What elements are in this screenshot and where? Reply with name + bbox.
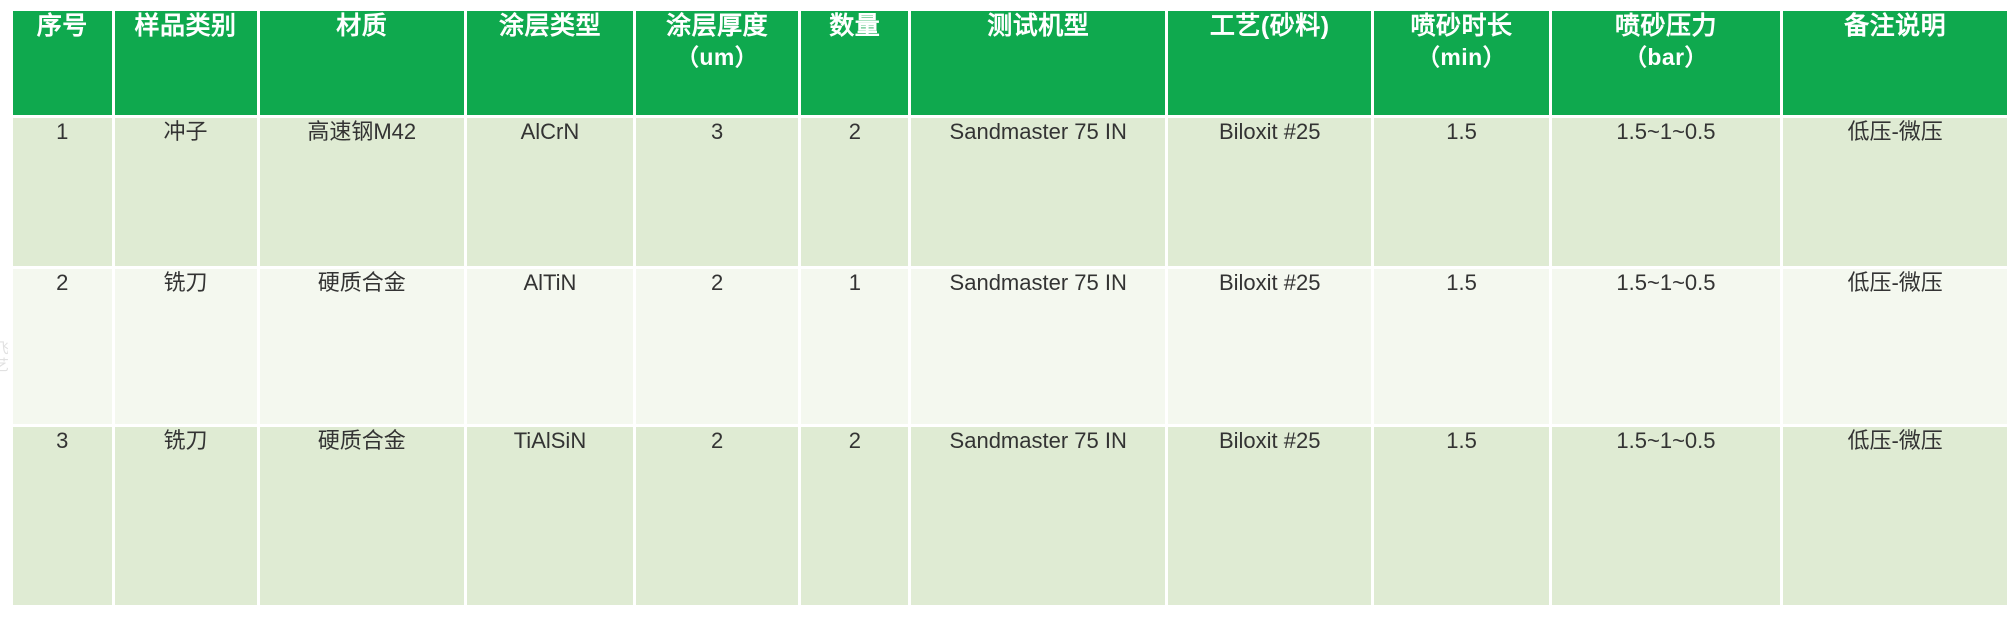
column-header-unit: （min）: [1374, 42, 1548, 72]
sample-test-plan-table: 序号样品类别材质涂层类型涂层厚度（um）数量测试机型工艺(砂料)喷砂时长（min…: [10, 8, 2010, 608]
cell-machine[interactable]: Sandmaster 75 IN: [911, 118, 1165, 266]
cell-coating[interactable]: AlCrN: [467, 118, 633, 266]
table-row[interactable]: 2铣刀硬质合金AlTiN21Sandmaster 75 INBiloxit #2…: [13, 269, 2007, 424]
column-header-seq[interactable]: 序号: [13, 11, 112, 115]
cell-material[interactable]: 高速钢M42: [260, 118, 464, 266]
cell-machine[interactable]: Sandmaster 75 IN: [911, 427, 1165, 605]
cell-thickness[interactable]: 2: [636, 269, 798, 424]
cell-thickness[interactable]: 2: [636, 427, 798, 605]
cell-category[interactable]: 铣刀: [115, 269, 257, 424]
cell-qty[interactable]: 2: [801, 118, 908, 266]
cell-pressure[interactable]: 1.5~1~0.5: [1552, 118, 1781, 266]
column-header-process[interactable]: 工艺(砂料): [1168, 11, 1371, 115]
column-header-unit: （um）: [636, 42, 798, 72]
cell-seq[interactable]: 2: [13, 269, 112, 424]
cell-coating[interactable]: TiAlSiN: [467, 427, 633, 605]
column-header-label: 序号: [37, 12, 88, 40]
cell-pressure[interactable]: 1.5~1~0.5: [1552, 427, 1781, 605]
cell-remark[interactable]: 低压-微压: [1783, 427, 2007, 605]
column-header-label: 涂层类型: [499, 12, 601, 40]
column-header-label: 样品类别: [135, 12, 237, 40]
column-header-unit: （bar）: [1552, 42, 1781, 72]
column-header-material[interactable]: 材质: [260, 11, 464, 115]
cell-blast_time[interactable]: 1.5: [1374, 269, 1548, 424]
column-header-label: 喷砂时长: [1411, 12, 1513, 40]
column-header-thickness[interactable]: 涂层厚度（um）: [636, 11, 798, 115]
table-header: 序号样品类别材质涂层类型涂层厚度（um）数量测试机型工艺(砂料)喷砂时长（min…: [13, 11, 2007, 115]
cell-thickness[interactable]: 3: [636, 118, 798, 266]
cell-qty[interactable]: 1: [801, 269, 908, 424]
column-header-qty[interactable]: 数量: [801, 11, 908, 115]
column-header-coating[interactable]: 涂层类型: [467, 11, 633, 115]
cell-category[interactable]: 铣刀: [115, 427, 257, 605]
table-header-row: 序号样品类别材质涂层类型涂层厚度（um）数量测试机型工艺(砂料)喷砂时长（min…: [13, 11, 2007, 115]
cell-remark[interactable]: 低压-微压: [1783, 118, 2007, 266]
column-header-label: 数量: [829, 12, 880, 40]
table-body: 1冲子高速钢M42AlCrN32Sandmaster 75 INBiloxit …: [13, 118, 2007, 605]
cell-material[interactable]: 硬质合金: [260, 427, 464, 605]
column-header-pressure[interactable]: 喷砂压力（bar）: [1552, 11, 1781, 115]
column-header-machine[interactable]: 测试机型: [911, 11, 1165, 115]
cell-qty[interactable]: 2: [801, 427, 908, 605]
cell-blast_time[interactable]: 1.5: [1374, 118, 1548, 266]
cell-material[interactable]: 硬质合金: [260, 269, 464, 424]
cell-process[interactable]: Biloxit #25: [1168, 269, 1371, 424]
cell-machine[interactable]: Sandmaster 75 IN: [911, 269, 1165, 424]
clipped-text-artifact: 飞艺: [0, 340, 8, 374]
column-header-category[interactable]: 样品类别: [115, 11, 257, 115]
cell-remark[interactable]: 低压-微压: [1783, 269, 2007, 424]
column-header-label: 测试机型: [987, 12, 1089, 40]
cell-pressure[interactable]: 1.5~1~0.5: [1552, 269, 1781, 424]
cell-process[interactable]: Biloxit #25: [1168, 118, 1371, 266]
column-header-label: 备注说明: [1844, 12, 1946, 40]
column-header-remark[interactable]: 备注说明: [1783, 11, 2007, 115]
spreadsheet-canvas: 飞艺 序号样品类别材质涂层类型涂层厚度（um）数量测试机型工艺(砂料)喷砂时长（…: [0, 0, 2015, 637]
cell-category[interactable]: 冲子: [115, 118, 257, 266]
cell-seq[interactable]: 1: [13, 118, 112, 266]
column-header-label: 工艺(砂料): [1210, 12, 1330, 40]
column-header-label: 材质: [336, 12, 387, 40]
table-row[interactable]: 3铣刀硬质合金TiAlSiN22Sandmaster 75 INBiloxit …: [13, 427, 2007, 605]
cell-seq[interactable]: 3: [13, 427, 112, 605]
cell-coating[interactable]: AlTiN: [467, 269, 633, 424]
column-header-label: 喷砂压力: [1615, 12, 1717, 40]
column-header-label: 涂层厚度: [666, 12, 768, 40]
table-row[interactable]: 1冲子高速钢M42AlCrN32Sandmaster 75 INBiloxit …: [13, 118, 2007, 266]
cell-blast_time[interactable]: 1.5: [1374, 427, 1548, 605]
column-header-blast_time[interactable]: 喷砂时长（min）: [1374, 11, 1548, 115]
cell-process[interactable]: Biloxit #25: [1168, 427, 1371, 605]
